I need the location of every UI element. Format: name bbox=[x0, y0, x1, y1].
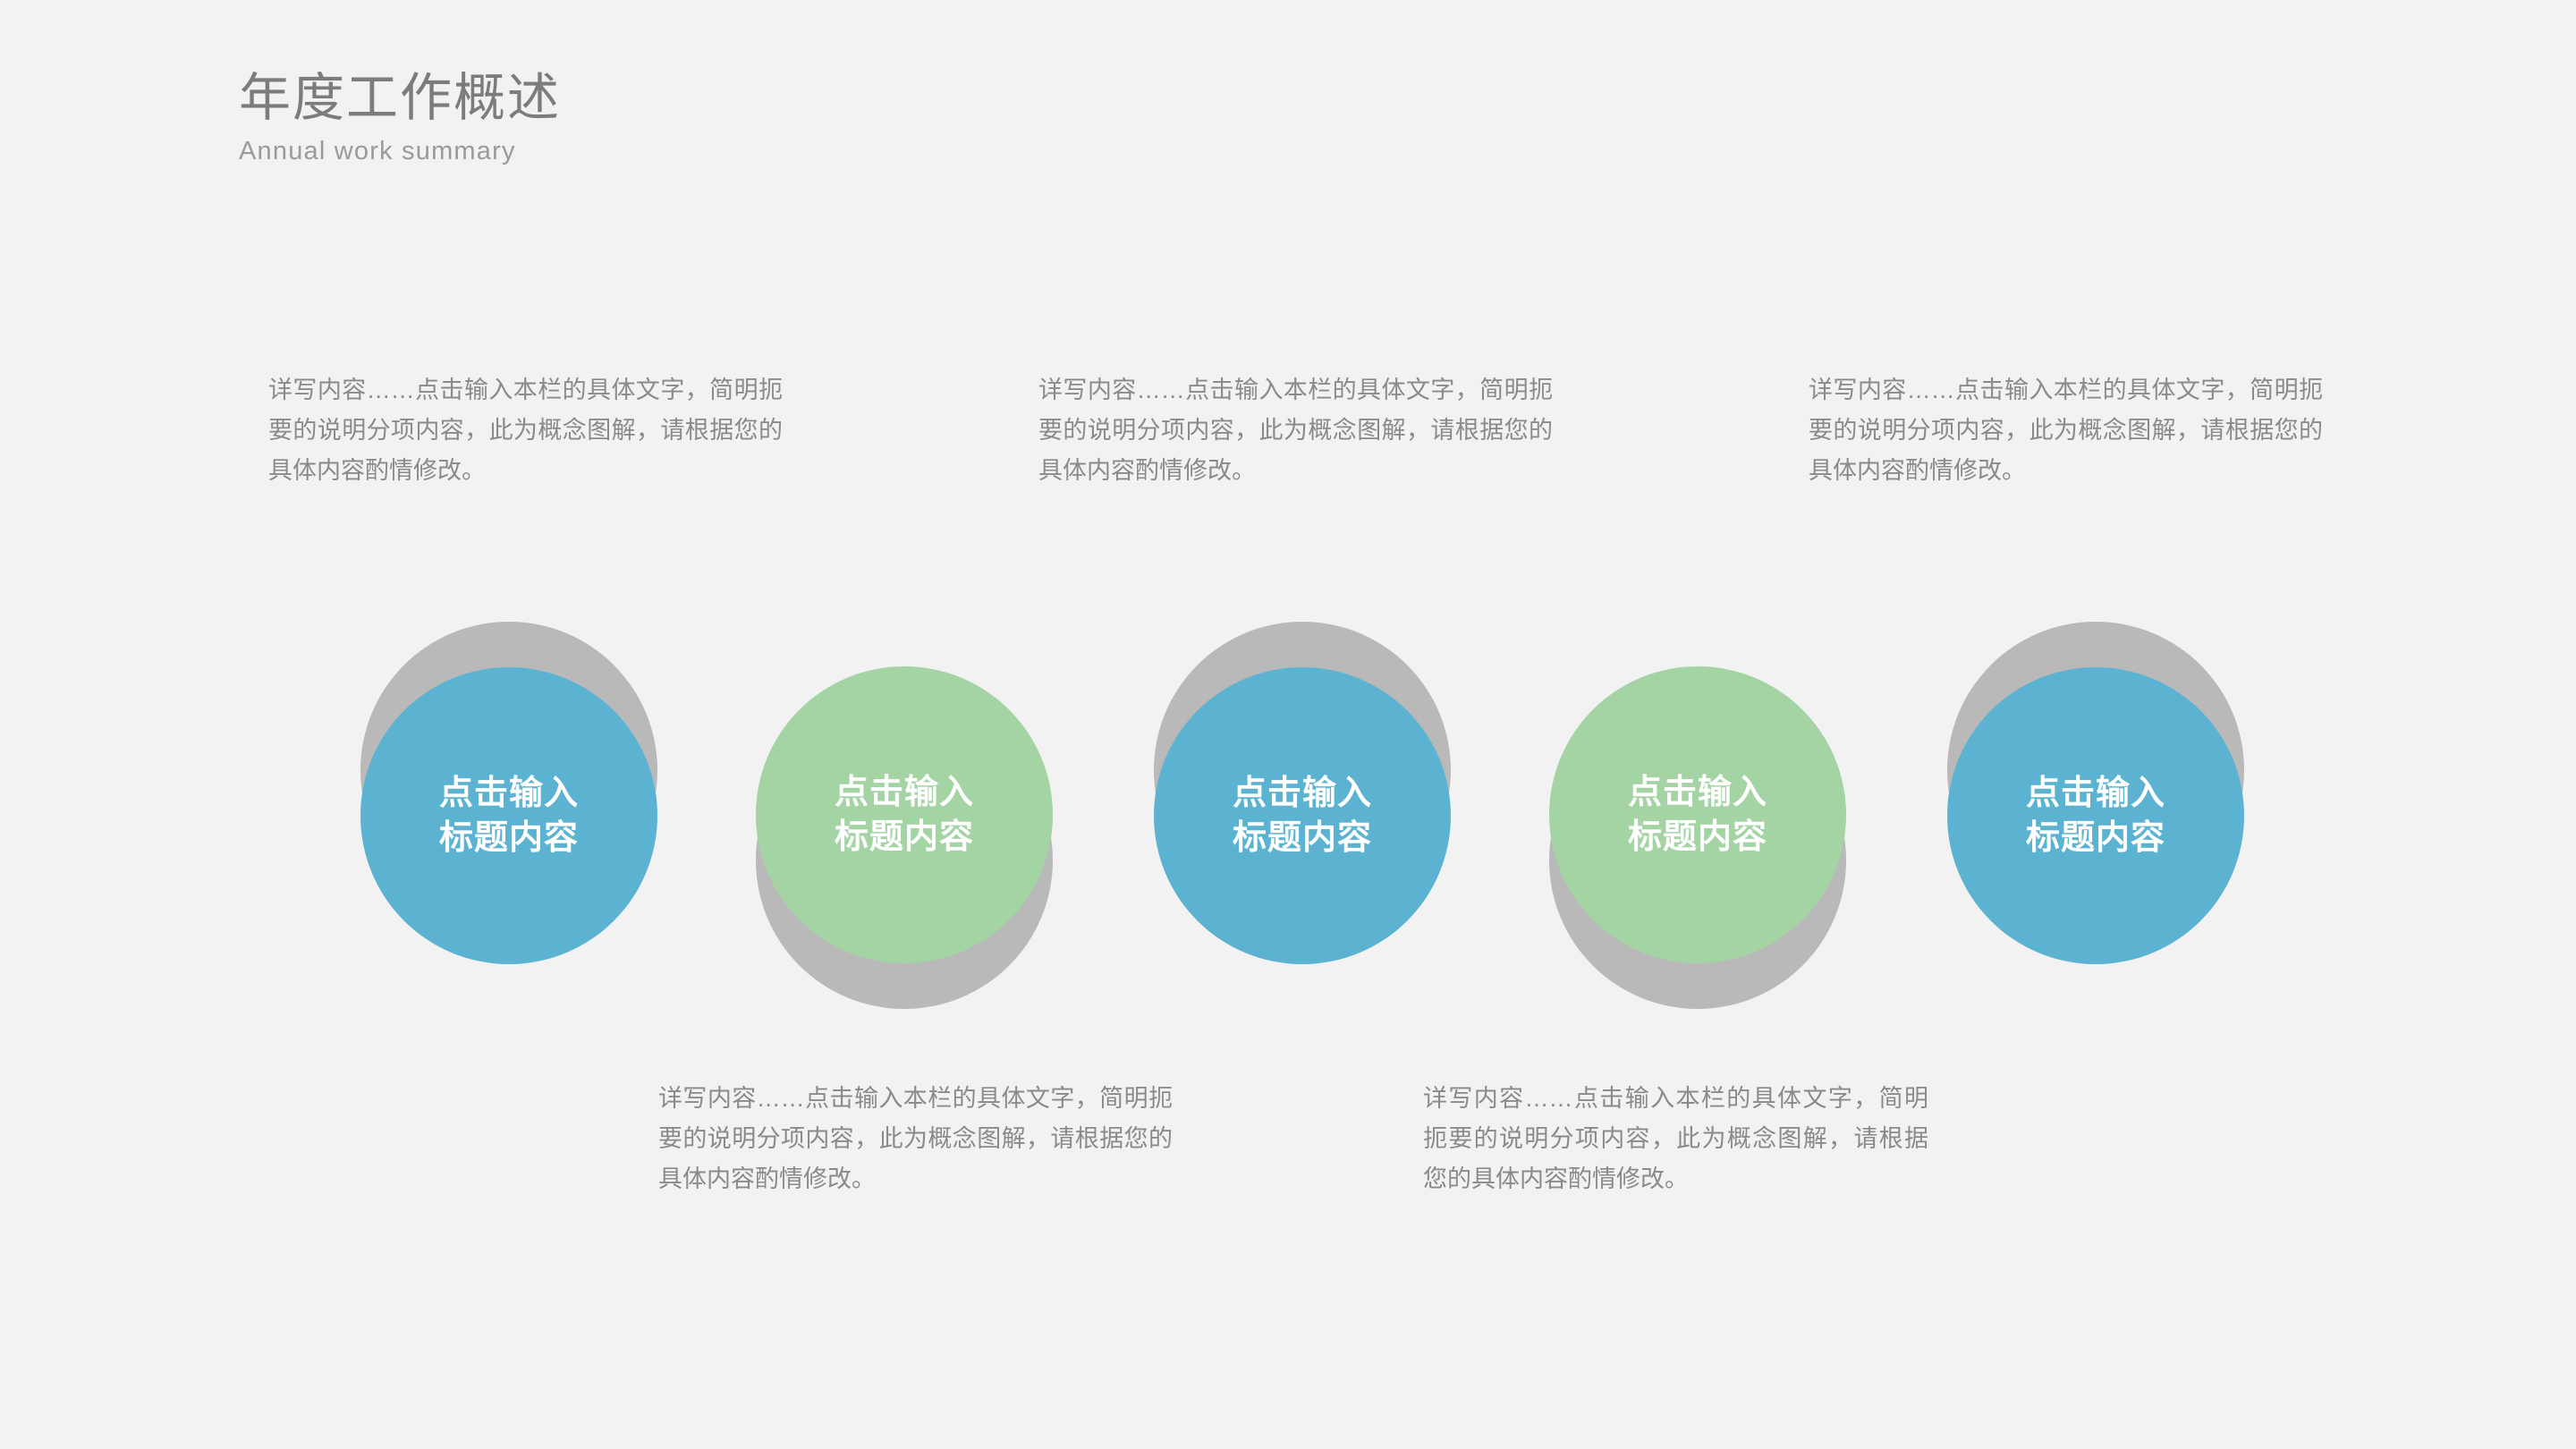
description-top-3: 详写内容……点击输入本栏的具体文字，简明扼要的说明分项内容，此为概念图解，请根据… bbox=[1809, 370, 2323, 490]
node-disc-1[interactable]: 点击输入 标题内容 bbox=[360, 667, 657, 964]
node-label-5: 点击输入 标题内容 bbox=[2026, 771, 2165, 860]
description-top-1: 详写内容……点击输入本栏的具体文字，简明扼要的说明分项内容，此为概念图解，请根据… bbox=[268, 370, 783, 490]
concept-circle-row: 点击输入 标题内容 点击输入 标题内容 点击输入 标题内容 点击输入 标题内容 bbox=[0, 0, 2576, 1449]
concept-node-2[interactable]: 点击输入 标题内容 bbox=[756, 666, 1053, 963]
description-bottom-1: 详写内容……点击输入本栏的具体文字，简明扼要的说明分项内容，此为概念图解，请根据… bbox=[658, 1079, 1173, 1199]
description-top-2: 详写内容……点击输入本栏的具体文字，简明扼要的说明分项内容，此为概念图解，请根据… bbox=[1038, 370, 1553, 490]
description-bottom-2: 详写内容……点击输入本栏的具体文字，简明扼要的说明分项内容，此为概念图解，请根据… bbox=[1423, 1079, 1928, 1199]
node-disc-3[interactable]: 点击输入 标题内容 bbox=[1154, 667, 1451, 964]
node-label-3: 点击输入 标题内容 bbox=[1233, 771, 1372, 860]
concept-node-3[interactable]: 点击输入 标题内容 bbox=[1154, 667, 1451, 964]
slide-canvas: 年度工作概述 Annual work summary 详写内容……点击输入本栏的… bbox=[0, 0, 2576, 1449]
concept-node-1[interactable]: 点击输入 标题内容 bbox=[360, 667, 657, 964]
concept-node-5[interactable]: 点击输入 标题内容 bbox=[1947, 667, 2244, 964]
concept-node-4[interactable]: 点击输入 标题内容 bbox=[1549, 666, 1846, 963]
page-subtitle: Annual work summary bbox=[239, 137, 561, 166]
slide-header: 年度工作概述 Annual work summary bbox=[239, 70, 561, 166]
node-disc-4[interactable]: 点击输入 标题内容 bbox=[1549, 666, 1846, 963]
node-disc-2[interactable]: 点击输入 标题内容 bbox=[756, 666, 1053, 963]
node-label-2: 点击输入 标题内容 bbox=[835, 770, 974, 860]
node-label-1: 点击输入 标题内容 bbox=[439, 771, 579, 860]
node-label-4: 点击输入 标题内容 bbox=[1628, 770, 1767, 860]
page-title: 年度工作概述 bbox=[239, 70, 561, 128]
node-disc-5[interactable]: 点击输入 标题内容 bbox=[1947, 667, 2244, 964]
